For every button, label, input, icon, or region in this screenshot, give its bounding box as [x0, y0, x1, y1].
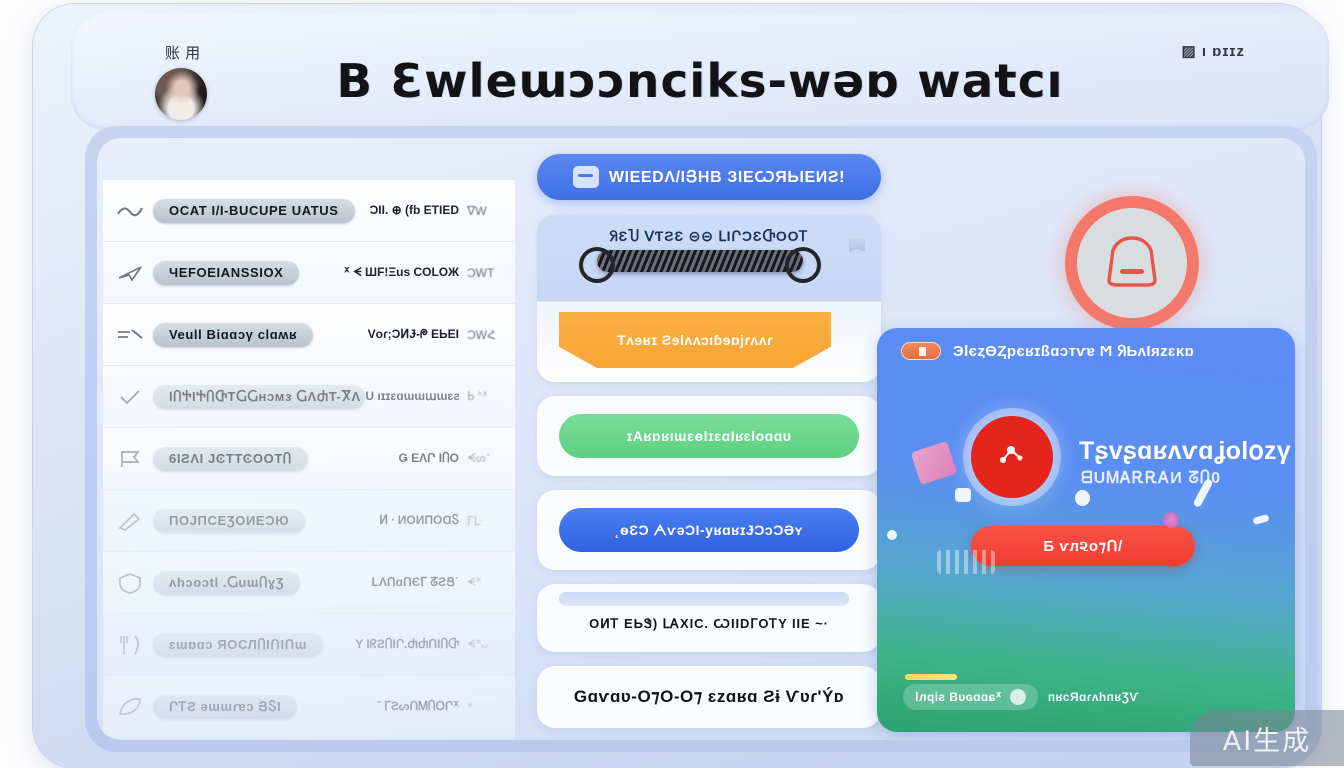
list-item-meta: Y ΙᖇƧႶΙՐ.ႻႻՈІႶႧ: [355, 637, 459, 652]
promo-card[interactable]: ЭlєȥƟⱫpєʁɪßɑɔтѵɐ Ϻ ᖆЬʌӀᴙᴢɛᴋɒ Tʂvʂɑʁʌѵɑʝо…: [877, 328, 1295, 732]
primary-cta-label: WIEEDΛ/ӀՅHB ЗIEѠЯЬIEИƧ!: [609, 167, 845, 187]
page-title: B Ɛwleɯɔɔnciks-wǝɒ watcı: [58, 54, 1341, 108]
list-item-tail: ᒥᒷ: [467, 514, 501, 528]
list-item-meta: ƆII. ⊕ (fb ETIED: [370, 203, 459, 218]
promo-footer: Ⅰлԛіƨ Bυɢɑɑɕᕽ ᴨʁϲЯɑɾʌhᴨʁƷѴ: [903, 684, 1140, 710]
promo-footer-text: ᴨʁϲЯɑɾʌhᴨʁƷѴ: [1048, 690, 1140, 704]
list-item-label: ΠОЈПСЕƷОИЕƆЮ: [153, 509, 305, 533]
list-item-tail: ᗕᕽᴗ: [467, 637, 501, 652]
text-card-line: ОͶᎢ ЕЬᏕ) ԼᎪXIϹ. ѠӀӀDᒥOᎢY ӀӀЕ ~·: [557, 616, 861, 632]
list-item-tail: ᕽ: [467, 700, 501, 714]
list-item-tail: ƆWT: [467, 266, 501, 280]
blue-action-card: ˛ѳƐϽ ᗅѵǝϽӀ-уʁɑʁɪɈϽͻƆƏʏ: [537, 490, 881, 570]
flag-icon: [113, 446, 147, 472]
list-item-tail: ᗕᕽ: [467, 575, 501, 590]
card-icon: [573, 166, 599, 188]
header-right-status: ▨ ı ɒɪɪz: [1182, 42, 1246, 60]
confetti-shape: [955, 488, 971, 502]
promo-cta-button[interactable]: Ƃ ѵᴫ૨o⁊ᑎ/: [971, 526, 1195, 566]
list-item[interactable]: ʌhɔoɔtӏ .ႺuɯႶɣƷ LΛՈɑՈЄᒥ ᘔƧՑˊ ᗕᕽ: [103, 552, 515, 614]
list-item-tail: ƆWՀ: [467, 328, 501, 342]
ai-watermark: AI生成: [1190, 710, 1344, 766]
promo-header-text: ЭlєȥƟⱫpєʁɪßɑɔтѵɐ Ϻ ᖆЬʌӀᴙᴢɛᴋɒ: [953, 343, 1194, 360]
list-item-meta: LΛՈɑՈЄᒥ ᘔƧՑˊ: [372, 575, 459, 590]
blue-action-button[interactable]: ˛ѳƐϽ ᗅѵǝϽӀ-уʁɑʁɪɈϽͻƆƏʏ: [559, 508, 859, 552]
text-card-body: ОͶᎢ ЕЬᏕ) ԼᎪXIϹ. ѠӀӀDᒥOᎢY ӀӀЕ ~·: [537, 584, 881, 652]
list-item-label: 6ІƧΛӀ ЈϾΤΤϾΟΟΤႶ: [153, 447, 308, 471]
list-item-tail: ᗕᔕ⁺: [467, 451, 501, 466]
page-frame: OCAT I/I-BUCUPE UATUS ƆII. ⊕ (fb ETIED ᐁ…: [85, 126, 1317, 752]
promo-subtitle: ᗺUᎷᎪᎡᎡᎪИ ᘔႶ0: [1081, 468, 1221, 488]
list-item[interactable]: ɛɯɒɑɔ ЯОСЛႶӀՈІՈɯ Y ΙᖇƧႶΙՐ.ႻႻՈІႶႧ ᗕᕽᴗ: [103, 614, 515, 676]
reward-badge[interactable]: [1065, 196, 1199, 330]
bike-icon: [1010, 689, 1026, 705]
left-list-panel: OCAT I/I-BUCUPE UATUS ƆII. ⊕ (fb ETIED ᐁ…: [103, 180, 515, 740]
coil-graphic: [597, 250, 803, 272]
code-card[interactable]: Gɑѵɑʋ-О⁊О-О⁊ ɛᴢɑʁɑ Ƨɨ Ѵʋɾ'Ýᴅ: [537, 666, 881, 728]
text-card[interactable]: ОͶᎢ ЕЬᏕ) ԼᎪXIϹ. ѠӀӀDᒥOᎢY ӀӀЕ ~·: [537, 584, 881, 652]
code-card-line: Gɑѵɑʋ-О⁊О-О⁊ ɛᴢɑʁɑ Ƨɨ Ѵʋɾ'Ýᴅ: [537, 666, 881, 728]
confetti-shape: [1252, 514, 1269, 525]
list-item[interactable]: ЧЕFOEIANSSIOX ᕽ ᗕ ШF!Ξus COLOЖ ƆWT: [103, 242, 515, 304]
wave-icon: [113, 198, 147, 224]
list-item-label: Veull Bіɑɑɔγ clɑʍʁ: [153, 323, 313, 347]
center-column: WIEEDΛ/ӀՅHB ЗIEѠЯЬIEИƧ! ᖆƐႮ ᐯƬƧƐ ⊝⊝ ԼӀՐƆ…: [537, 154, 881, 740]
green-action-card: ɪAʁɒʁıɯɛѳlɪɛɑӀʁɛӏоɑɑυ: [537, 396, 881, 476]
list-item-label: ӏႶႵӀႵႶႧΤႺႺнɔмɜ ႺΛႻΤ-ႿΛ: [153, 385, 365, 409]
green-action-button[interactable]: ɪAʁɒʁıɯɛѳlɪɛɑӀʁɛӏоɑɑυ: [559, 414, 859, 458]
page-content: OCAT I/I-BUCUPE UATUS ƆII. ⊕ (fb ETIED ᐁ…: [97, 138, 1305, 740]
promo-footer-chip-label: Ⅰлԛіƨ Bυɢɑɑɕᕽ: [915, 690, 1002, 704]
device-frame: 账 用 B Ɛwleɯɔɔnciks-wǝɒ watcı ▨ ı ɒɪɪz OC…: [33, 4, 1321, 768]
list-item-tail: ᖯ ᑋᕽ: [467, 389, 501, 404]
list-item-meta: Ǥ ΕΛՐ ΙႶΟ: [398, 451, 459, 466]
promo-logo: [971, 416, 1053, 498]
fork-icon: [113, 632, 147, 658]
list-item-meta: Vоɾ;ƆͶɈ-ᖘ ЕЬЕІ: [368, 327, 459, 342]
bag-icon: [1101, 232, 1163, 295]
flag-icon: [849, 238, 865, 258]
list-item-meta: U ıɪɪɛɑɯɯաɯɛƨɪ: [365, 389, 459, 404]
ribbon-icon: [113, 322, 147, 348]
list-item-label: ЧЕFOEIANSSIOX: [153, 261, 299, 285]
list-item[interactable]: ӏႶႵӀႵႶႧΤႺႺнɔмɜ ႺΛႻΤ-ႿΛ U ıɪɪɛɑɯɯաɯɛƨɪ ᖯ …: [103, 366, 515, 428]
list-item-meta: ˇ ᒥƧᔕՈᎷႶՕՐᕽ: [377, 699, 459, 714]
burst-icon: [991, 436, 1033, 479]
list-item-meta: ᕽ ᗕ ШF!Ξus COLOЖ: [344, 265, 459, 280]
confetti-shape: [1163, 512, 1179, 528]
promo-footer-chip[interactable]: Ⅰлԛіƨ Bυɢɑɑɕᕽ: [903, 684, 1038, 710]
list-item-label: ՐᎢƧ ǝɯɯɾɐɔ ՅႽӀ: [153, 695, 297, 719]
list-item-tail: ᐁW: [467, 204, 501, 218]
check-icon: [113, 384, 147, 410]
green-card-body: ɪAʁɒʁıɯɛѳlɪɛɑӀʁɛӏоɑɑυ: [537, 396, 881, 476]
list-item[interactable]: 6ІƧΛӀ ЈϾΤΤϾΟΟΤႶ Ǥ ΕΛՐ ΙႶΟ ᗕᔕ⁺: [103, 428, 515, 490]
leaf-icon: [113, 694, 147, 720]
hero-action-button[interactable]: Tʌɘʁɪ Ƨɘlʌʌɔıɓɘɒjɾʌʌɾ: [559, 312, 831, 368]
accent-bar: [905, 674, 957, 680]
list-item[interactable]: OCAT I/I-BUCUPE UATUS ƆII. ⊕ (fb ETIED ᐁ…: [103, 180, 515, 242]
confetti-shape: [887, 530, 897, 540]
shield-icon: [113, 570, 147, 596]
confetti-shape: [1075, 490, 1090, 506]
plane-icon: [113, 260, 147, 286]
pen-icon: [113, 508, 147, 534]
list-item[interactable]: ՐᎢƧ ǝɯɯɾɐɔ ՅႽӀ ˇ ᒥƧᔕՈᎷႶՕՐᕽ ᕽ: [103, 676, 515, 738]
primary-cta-button[interactable]: WIEEDΛ/ӀՅHB ЗIEѠЯЬIEИƧ!: [537, 154, 881, 200]
screenshot-root: 账 用 B Ɛwleɯɔɔnciks-wǝɒ watcı ▨ ı ɒɪɪz OC…: [0, 0, 1344, 768]
highlight-bar: [559, 592, 849, 606]
hero-card-title: ᖆƐႮ ᐯƬƧƐ ⊝⊝ ԼӀՐƆƐႧOOᎢ: [537, 228, 881, 245]
hero-card-body: ᖆƐႮ ᐯƬƧƐ ⊝⊝ ԼӀՐƆƐႧOOᎢ Tʌɘʁɪ Ƨɘlʌʌɔıɓɘɒjɾ…: [537, 214, 881, 382]
hero-card[interactable]: ᖆƐႮ ᐯƬƧƐ ⊝⊝ ԼӀՐƆƐႧOOᎢ Tʌɘʁɪ Ƨɘlʌʌɔıɓɘɒjɾ…: [537, 214, 881, 382]
promo-header: ЭlєȥƟⱫpєʁɪßɑɔтѵɐ Ϻ ᖆЬʌӀᴙᴢɛᴋɒ: [901, 342, 1194, 360]
list-item-label: ʌhɔoɔtӏ .ႺuɯႶɣƷ: [153, 571, 300, 595]
battery-badge: [901, 342, 941, 360]
list-item[interactable]: Veull Bіɑɑɔγ clɑʍʁ Vоɾ;ƆͶɈ-ᖘ ЕЬЕІ ƆWՀ: [103, 304, 515, 366]
list-item-label: OCAT I/I-BUCUPE UATUS: [153, 199, 355, 223]
list-item[interactable]: ΠОЈПСЕƷОИЕƆЮ Ͷ ᐧ ИОИПОⱭႽ ᒥᒷ: [103, 490, 515, 552]
list-item-label: ɛɯɒɑɔ ЯОСЛႶӀՈІՈɯ: [153, 633, 323, 657]
blue-card-body: ˛ѳƐϽ ᗅѵǝϽӀ-уʁɑʁɪɈϽͻƆƏʏ: [537, 490, 881, 570]
confetti-shape: [911, 441, 958, 485]
list-item-meta: Ͷ ᐧ ИОИПОⱭႽ: [379, 513, 459, 528]
promo-title: Tʂvʂɑʁʌѵɑʝоlօᴢγ: [1079, 436, 1291, 466]
confetti-shape: [937, 550, 995, 574]
app-header: 账 用 B Ɛwleɯɔɔnciks-wǝɒ watcı ▨ ı ɒɪɪz: [71, 12, 1329, 130]
